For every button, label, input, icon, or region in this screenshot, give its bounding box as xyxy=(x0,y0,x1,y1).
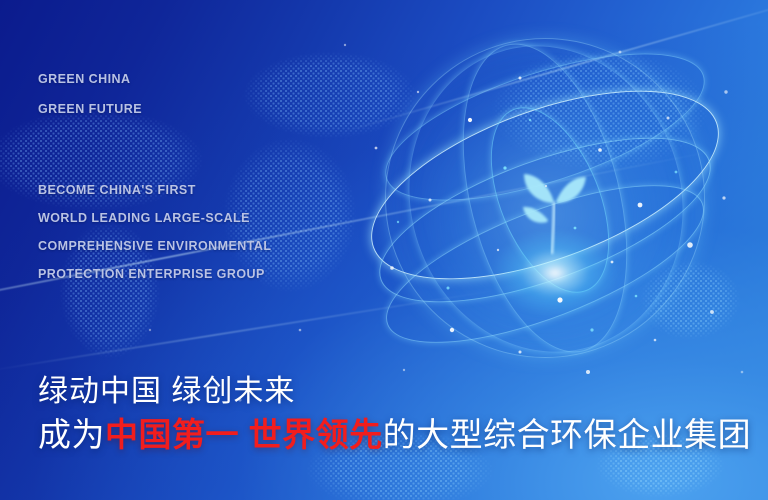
headline-prefix: 成为 xyxy=(38,416,105,453)
globe-graphic xyxy=(350,10,740,390)
sprout-seedling-icon xyxy=(518,162,588,262)
eyebrow-line-2: GREEN FUTURE xyxy=(38,102,142,116)
eyebrow-line-1: GREEN CHINA xyxy=(38,72,130,86)
mission-line-4: PROTECTION ENTERPRISE GROUP xyxy=(38,267,265,281)
mission-line-1: BECOME CHINA'S FIRST xyxy=(38,183,196,197)
hero-banner: GREEN CHINA GREEN FUTURE BECOME CHINA'S … xyxy=(0,0,768,500)
headline-line-1: 绿动中国 绿创未来 xyxy=(38,366,295,410)
headline-accent: 中国第一 世界领先 xyxy=(105,416,383,453)
mission-line-2: WORLD LEADING LARGE-SCALE xyxy=(38,211,250,225)
headline-line-2: 成为中国第一 世界领先的大型综合环保企业集团 xyxy=(38,408,751,456)
mission-line-3: COMPREHENSIVE ENVIRONMENTAL xyxy=(38,239,271,253)
headline-suffix: 的大型综合环保企业集团 xyxy=(383,416,752,453)
